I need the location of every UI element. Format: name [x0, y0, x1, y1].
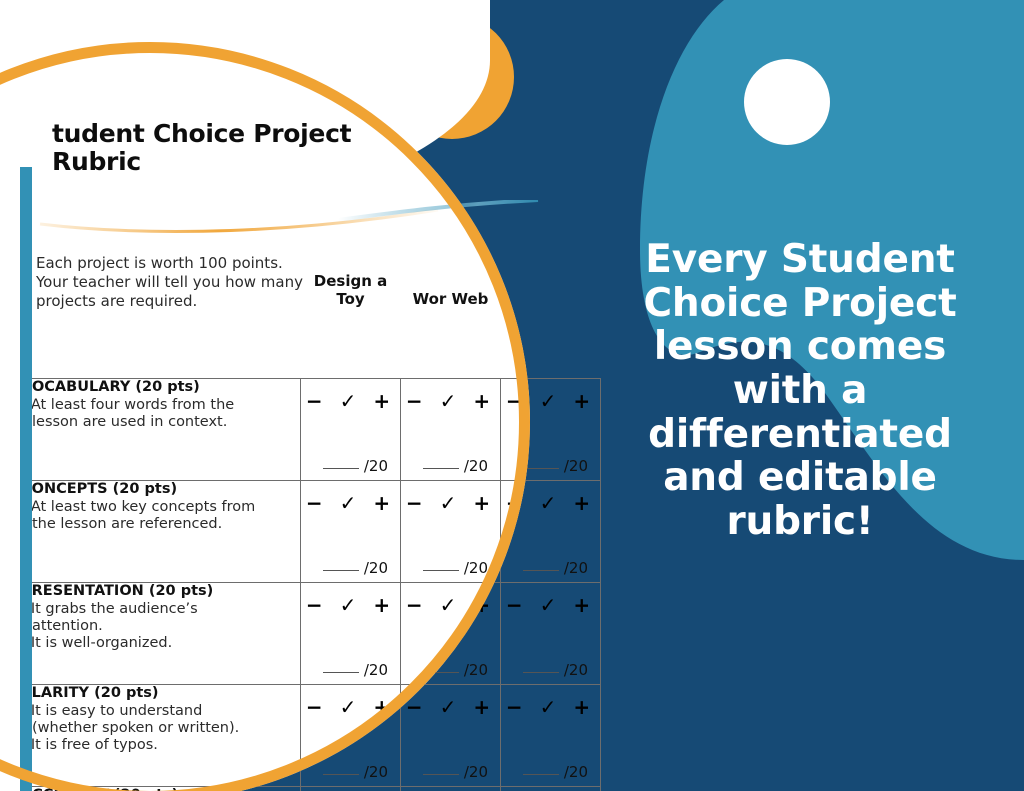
score-marks[interactable]: − ✓ + — [501, 379, 600, 413]
score-marks[interactable]: − ✓ + — [301, 787, 400, 791]
document-side-bar — [20, 167, 32, 791]
criteria-cell: CONCEPTS (20 pts) - At least two key con… — [21, 480, 301, 582]
score-cell[interactable]: − ✓ + — [401, 786, 501, 791]
score-cell[interactable]: − ✓ + /20 — [501, 582, 601, 684]
rubric-table: Design a Toy Wor Web VOCABULARY (20 pts)… — [20, 320, 601, 791]
score-marks[interactable]: − ✓ + — [301, 379, 400, 413]
score-cell[interactable]: − ✓ + /20 — [401, 684, 501, 786]
score-points: /20 — [301, 457, 400, 475]
score-cell[interactable]: − ✓ + /20 — [301, 378, 401, 480]
criteria-line: - It is easy to understand (whether spok… — [21, 703, 300, 738]
score-blank[interactable] — [523, 774, 559, 775]
score-blank[interactable] — [423, 468, 459, 469]
table-row: CLARITY (20 pts) - It is easy to underst… — [21, 684, 601, 786]
score-marks[interactable]: − ✓ + — [301, 685, 400, 719]
score-blank[interactable] — [523, 570, 559, 571]
rubric-header-row: Design a Toy Wor Web — [21, 320, 601, 378]
document-title: tudent Choice Project Rubric — [38, 42, 558, 176]
promo-graphic: tudent Choice Project Rubric — [0, 0, 1024, 791]
score-cell[interactable]: − ✓ + /20 — [301, 480, 401, 582]
criteria-title: CLARITY (20 pts) — [21, 685, 300, 701]
table-row: ACCURACY (20 pts) - Drawings/models are … — [21, 786, 601, 791]
criteria-line: - At least four words from the lesson ar… — [21, 397, 300, 432]
score-blank[interactable] — [323, 570, 359, 571]
score-cell[interactable]: − ✓ + /20 — [401, 582, 501, 684]
score-points: /20 — [301, 763, 400, 781]
score-blank[interactable] — [423, 672, 459, 673]
score-marks[interactable]: − ✓ + — [301, 583, 400, 617]
criteria-cell: ACCURACY (20 pts) - Drawings/models are … — [21, 786, 301, 791]
score-marks[interactable]: − ✓ + — [501, 481, 600, 515]
score-cell[interactable]: − ✓ + /20 — [401, 480, 501, 582]
score-marks[interactable]: − ✓ + — [301, 481, 400, 515]
score-cell[interactable]: − ✓ + — [301, 786, 401, 791]
score-points: /20 — [301, 661, 400, 679]
score-points: /20 — [301, 559, 400, 577]
score-blank[interactable] — [423, 774, 459, 775]
criteria-line: - At least two key concepts from the les… — [21, 499, 300, 534]
column-header-web: Wor Web — [401, 260, 501, 318]
score-cell[interactable]: − ✓ + /20 — [501, 684, 601, 786]
table-row: VOCABULARY (20 pts) - At least four word… — [21, 378, 601, 480]
score-blank[interactable] — [323, 468, 359, 469]
criteria-cell: CLARITY (20 pts) - It is easy to underst… — [21, 684, 301, 786]
score-points: /20 — [401, 661, 500, 679]
title-swoosh-decoration — [38, 200, 558, 240]
criteria-title: PRESENTATION (20 pts) — [21, 583, 300, 599]
score-points: /20 — [501, 763, 600, 781]
score-cell[interactable]: − ✓ + /20 — [401, 378, 501, 480]
criteria-cell: PRESENTATION (20 pts) - It grabs the aud… — [21, 582, 301, 684]
score-points: /20 — [401, 763, 500, 781]
rubric-document: tudent Choice Project Rubric — [0, 42, 560, 791]
score-marks[interactable]: − ✓ + — [501, 583, 600, 617]
criteria-title: ACCURACY (20 pts) — [21, 787, 300, 791]
score-marks[interactable]: − ✓ + — [401, 583, 500, 617]
column-header-design-a-toy: Design a Toy — [301, 260, 401, 318]
criteria-header — [21, 260, 301, 318]
score-points: /20 — [501, 559, 600, 577]
score-cell[interactable]: − ✓ + /20 — [501, 480, 601, 582]
score-blank[interactable] — [523, 468, 559, 469]
score-marks[interactable]: − ✓ + — [501, 787, 600, 791]
score-points: /20 — [501, 457, 600, 475]
score-cell[interactable]: − ✓ + /20 — [301, 684, 401, 786]
score-marks[interactable]: − ✓ + — [401, 379, 500, 413]
criteria-cell: VOCABULARY (20 pts) - At least four word… — [21, 378, 301, 480]
score-cell[interactable]: − ✓ + — [501, 786, 601, 791]
score-blank[interactable] — [423, 570, 459, 571]
score-marks[interactable]: − ✓ + — [401, 787, 500, 791]
score-points: /20 — [401, 457, 500, 475]
score-cell[interactable]: − ✓ + /20 — [501, 378, 601, 480]
score-marks[interactable]: − ✓ + — [401, 481, 500, 515]
white-circle-accent — [744, 59, 830, 145]
column-header-third — [501, 260, 601, 318]
score-blank[interactable] — [323, 774, 359, 775]
criteria-line: - It grabs the audience’s attention. — [21, 601, 300, 636]
promo-headline: Every Student Choice Project lesson come… — [604, 238, 996, 544]
score-marks[interactable]: − ✓ + — [501, 685, 600, 719]
score-cell[interactable]: − ✓ + /20 — [301, 582, 401, 684]
criteria-title: CONCEPTS (20 pts) — [21, 481, 300, 497]
criteria-line: - It is free of typos. — [21, 737, 300, 754]
table-row: PRESENTATION (20 pts) - It grabs the aud… — [21, 582, 601, 684]
criteria-line: - It is well-organized. — [21, 635, 300, 652]
score-blank[interactable] — [323, 672, 359, 673]
table-row: CONCEPTS (20 pts) - At least two key con… — [21, 480, 601, 582]
score-blank[interactable] — [523, 672, 559, 673]
score-points: /20 — [401, 559, 500, 577]
score-points: /20 — [501, 661, 600, 679]
criteria-title: VOCABULARY (20 pts) — [21, 379, 300, 395]
score-marks[interactable]: − ✓ + — [401, 685, 500, 719]
